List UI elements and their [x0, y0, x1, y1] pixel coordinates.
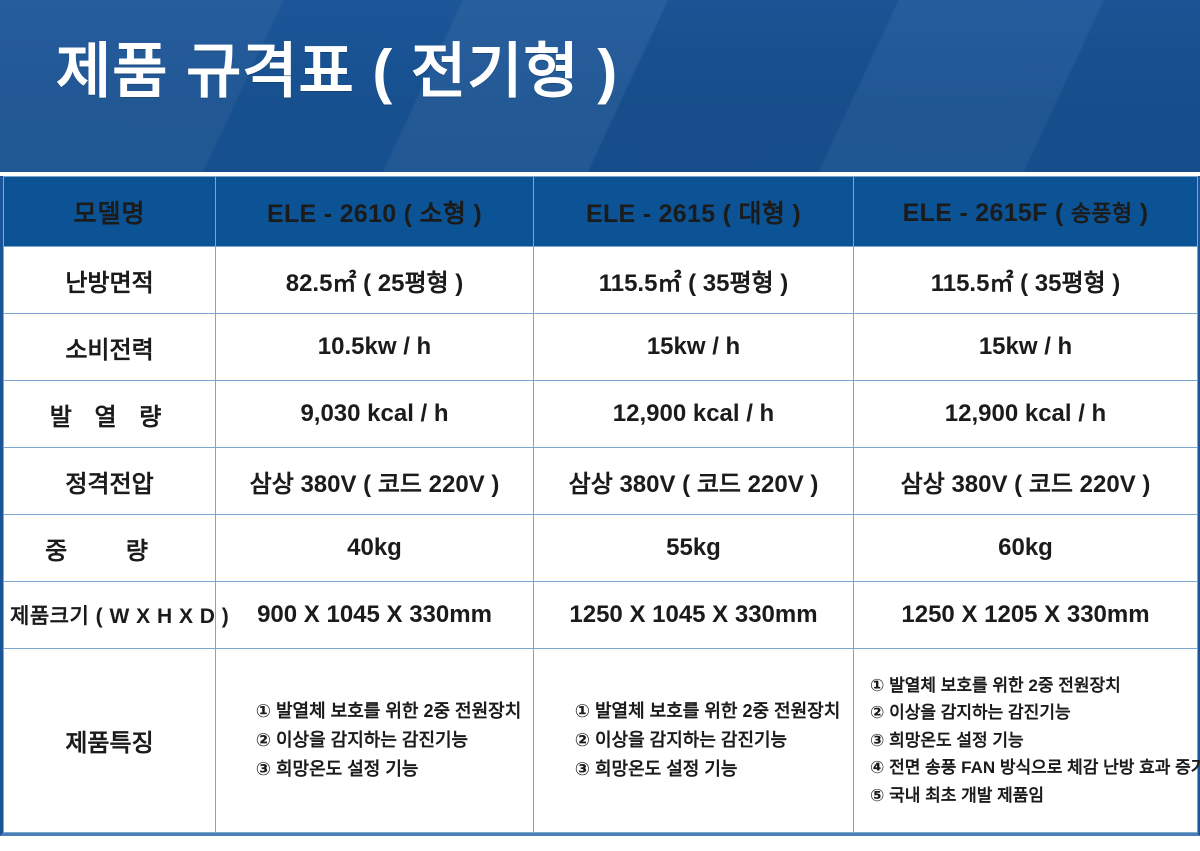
- feature-item: ③ 희망온도 설정 기능: [575, 755, 841, 784]
- model-variant-2615f: 송풍형: [1071, 201, 1133, 226]
- cell-dimensions-2610: 900 X 1045 X 330mm: [216, 582, 534, 649]
- table-row-dimensions: 제품크기 ( W X H X D ) 900 X 1045 X 330mm 12…: [4, 582, 1198, 649]
- table-head: 모델명 ELE - 2610 ( 소형 ) ELE - 2615 ( 대형 ) …: [4, 177, 1198, 247]
- model-variant-open-paren: (: [396, 200, 419, 228]
- cell-dimensions-2615: 1250 X 1045 X 330mm: [534, 582, 854, 649]
- model-code-2610: ELE - 2610: [267, 200, 396, 228]
- table-row-rated-voltage: 정격전압 삼상 380V ( 코드 220V ) 삼상 380V ( 코드 22…: [4, 448, 1198, 515]
- feature-item: ② 이상을 감지하는 감진기능: [870, 699, 1200, 727]
- feature-item: ① 발열체 보호를 위한 2중 전원장치: [575, 697, 841, 726]
- cell-features-2615f: ① 발열체 보호를 위한 2중 전원장치 ② 이상을 감지하는 감진기능 ③ 희…: [854, 649, 1198, 833]
- cell-heating-area-2610: 82.5㎡ ( 25평형 ): [216, 247, 534, 314]
- model-variant-2610: 소형: [420, 200, 467, 228]
- cell-weight-2610: 40kg: [216, 515, 534, 582]
- feature-item: ⑤ 국내 최초 개발 제품임: [870, 782, 1200, 810]
- row-label-rated-voltage: 정격전압: [4, 448, 216, 515]
- cell-rated-voltage-2615: 삼상 380V ( 코드 220V ): [534, 448, 854, 515]
- cell-heat-output-2615: 12,900 kcal / h: [534, 381, 854, 448]
- cell-heat-output-2610: 9,030 kcal / h: [216, 381, 534, 448]
- model-variant-close-paren: ): [785, 200, 801, 228]
- spec-table: 모델명 ELE - 2610 ( 소형 ) ELE - 2615 ( 대형 ) …: [3, 176, 1198, 833]
- cell-weight-2615: 55kg: [534, 515, 854, 582]
- table-row-features: 제품특징 ① 발열체 보호를 위한 2중 전원장치 ② 이상을 감지하는 감진기…: [4, 649, 1198, 833]
- cell-rated-voltage-2615f: 삼상 380V ( 코드 220V ): [854, 448, 1198, 515]
- model-code-2615f: ELE - 2615F: [903, 199, 1048, 227]
- table-header-row: 모델명 ELE - 2610 ( 소형 ) ELE - 2615 ( 대형 ) …: [4, 177, 1198, 247]
- title-banner: 제품 규격표 ( 전기형 ): [0, 0, 1200, 176]
- table-row-weight: 중 량 40kg 55kg 60kg: [4, 515, 1198, 582]
- feature-item: ③ 희망온도 설정 기능: [256, 755, 522, 784]
- feature-item: ① 발열체 보호를 위한 2중 전원장치: [870, 672, 1200, 700]
- model-variant-open-paren: (: [715, 200, 738, 228]
- model-variant-close-paren: ): [1132, 199, 1148, 227]
- column-header-model-name: 모델명: [4, 177, 216, 247]
- table-row-power-consumption: 소비전력 10.5kw / h 15kw / h 15kw / h: [4, 314, 1198, 381]
- feature-item: ① 발열체 보호를 위한 2중 전원장치: [256, 697, 522, 726]
- feature-list-2615: ① 발열체 보호를 위한 2중 전원장치 ② 이상을 감지하는 감진기능 ③ 희…: [575, 697, 841, 784]
- cell-power-consumption-2615: 15kw / h: [534, 314, 854, 381]
- row-label-weight: 중 량: [4, 515, 216, 582]
- model-variant-close-paren: ): [466, 200, 482, 228]
- row-label-dimensions: 제품크기 ( W X H X D ): [4, 582, 216, 649]
- feature-item: ③ 희망온도 설정 기능: [870, 727, 1200, 755]
- cell-heat-output-2615f: 12,900 kcal / h: [854, 381, 1198, 448]
- spec-sheet-page: 제품 규격표 ( 전기형 ) 모델명 ELE - 2610 ( 소형 ) ELE…: [0, 0, 1200, 851]
- feature-item: ② 이상을 감지하는 감진기능: [256, 726, 522, 755]
- feature-item: ② 이상을 감지하는 감진기능: [575, 726, 841, 755]
- table-row-heat-output: 발 열 량 9,030 kcal / h 12,900 kcal / h 12,…: [4, 381, 1198, 448]
- table-row-heating-area: 난방면적 82.5㎡ ( 25평형 ) 115.5㎡ ( 35평형 ) 115.…: [4, 247, 1198, 314]
- model-code-2615: ELE - 2615: [586, 200, 715, 228]
- cell-features-2610: ① 발열체 보호를 위한 2중 전원장치 ② 이상을 감지하는 감진기능 ③ 희…: [216, 649, 534, 833]
- column-header-ele-2610: ELE - 2610 ( 소형 ): [216, 177, 534, 247]
- feature-list-2615f: ① 발열체 보호를 위한 2중 전원장치 ② 이상을 감지하는 감진기능 ③ 희…: [870, 672, 1200, 810]
- model-variant-2615: 대형: [739, 200, 786, 228]
- cell-dimensions-2615f: 1250 X 1205 X 330mm: [854, 582, 1198, 649]
- cell-rated-voltage-2610: 삼상 380V ( 코드 220V ): [216, 448, 534, 515]
- column-header-ele-2615: ELE - 2615 ( 대형 ): [534, 177, 854, 247]
- feature-list-2610: ① 발열체 보호를 위한 2중 전원장치 ② 이상을 감지하는 감진기능 ③ 희…: [256, 697, 522, 784]
- model-variant-open-paren: (: [1048, 199, 1071, 227]
- feature-item: ④ 전면 송풍 FAN 방식으로 체감 난방 효과 증가: [870, 754, 1200, 782]
- spec-table-wrapper: 모델명 ELE - 2610 ( 소형 ) ELE - 2615 ( 대형 ) …: [0, 176, 1200, 836]
- cell-power-consumption-2615f: 15kw / h: [854, 314, 1198, 381]
- row-label-heat-output: 발 열 량: [4, 381, 216, 448]
- cell-power-consumption-2610: 10.5kw / h: [216, 314, 534, 381]
- column-header-ele-2615f: ELE - 2615F ( 송풍형 ): [854, 177, 1198, 247]
- row-label-heating-area: 난방면적: [4, 247, 216, 314]
- table-body: 난방면적 82.5㎡ ( 25평형 ) 115.5㎡ ( 35평형 ) 115.…: [4, 247, 1198, 833]
- cell-heating-area-2615f: 115.5㎡ ( 35평형 ): [854, 247, 1198, 314]
- page-title: 제품 규격표 ( 전기형 ): [56, 38, 618, 105]
- cell-weight-2615f: 60kg: [854, 515, 1198, 582]
- cell-heating-area-2615: 115.5㎡ ( 35평형 ): [534, 247, 854, 314]
- row-label-power-consumption: 소비전력: [4, 314, 216, 381]
- cell-features-2615: ① 발열체 보호를 위한 2중 전원장치 ② 이상을 감지하는 감진기능 ③ 희…: [534, 649, 854, 833]
- row-label-features: 제품특징: [4, 649, 216, 833]
